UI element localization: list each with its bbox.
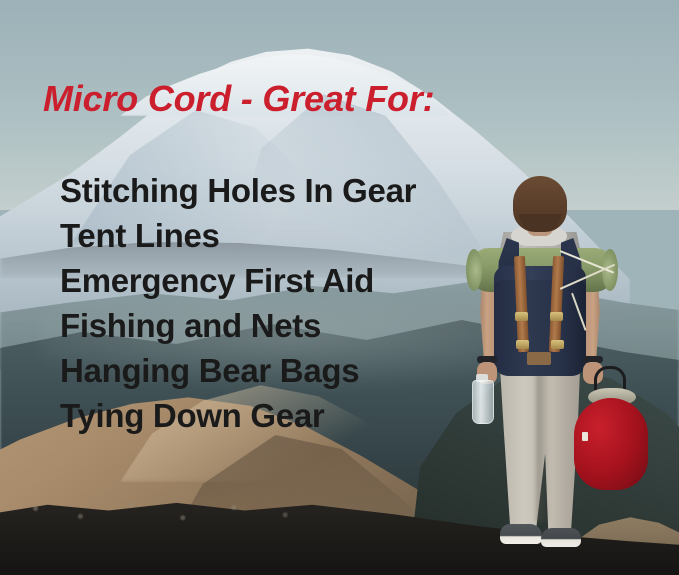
list-item: Stitching Holes In Gear — [60, 168, 416, 213]
red-stuff-sack — [574, 398, 648, 490]
list-item: Tying Down Gear — [60, 393, 416, 438]
backpack-buckle-left-upper — [515, 312, 528, 321]
backpack-buckle-left-lower — [516, 340, 529, 349]
list-item: Hanging Bear Bags — [60, 348, 416, 393]
backpack-logo-patch — [527, 352, 551, 365]
benefit-list: Stitching Holes In Gear Tent Lines Emerg… — [60, 168, 416, 438]
backpack-buckle-right-lower — [551, 340, 564, 349]
hiker-shoe-left — [500, 524, 542, 544]
pants-shadow — [536, 372, 550, 522]
micro-cord-promo-poster: Micro Cord - Great For: Stitching Holes … — [0, 0, 679, 575]
hiker-shoe-right — [541, 528, 581, 547]
stuff-sack-tag — [582, 432, 588, 441]
backpack-buckle-right-upper — [550, 312, 563, 321]
list-item: Emergency First Aid — [60, 258, 416, 303]
headline: Micro Cord - Great For: — [43, 78, 434, 120]
water-bottle — [472, 380, 494, 424]
list-item: Fishing and Nets — [60, 303, 416, 348]
sleeping-mat-end-left — [466, 249, 482, 291]
list-item: Tent Lines — [60, 213, 416, 258]
